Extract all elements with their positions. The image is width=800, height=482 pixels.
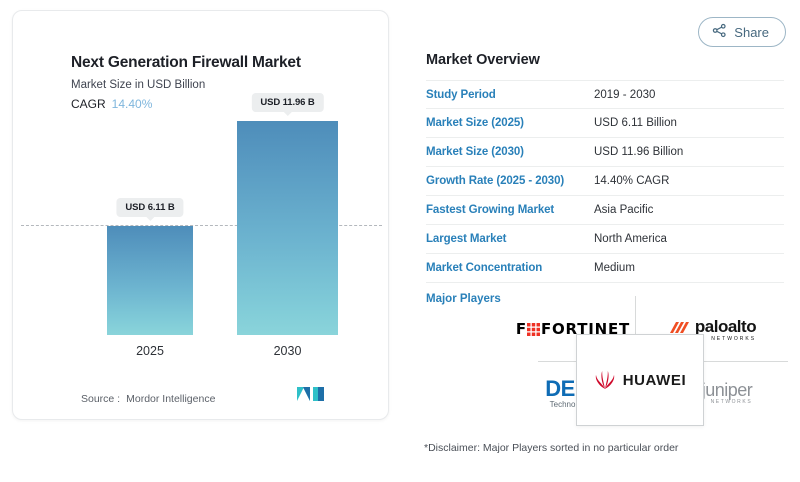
source-label: Source : <box>81 393 120 405</box>
huawei-logo-text: HUAWEI <box>623 372 687 389</box>
row-value: Asia Pacific <box>594 204 653 216</box>
row-label: Market Size (2030) <box>426 146 594 158</box>
source-row: Source : Mordor Intelligence <box>81 393 215 405</box>
bar-column-2025: USD 6.11 B <box>107 226 193 335</box>
huawei-mark-icon <box>594 370 616 390</box>
row-value: 2019 - 2030 <box>594 89 655 101</box>
row-label: Largest Market <box>426 233 594 245</box>
row-value: North America <box>594 233 667 245</box>
row-label: Fastest Growing Market <box>426 204 594 216</box>
row-label: Study Period <box>426 89 594 101</box>
share-button-label: Share <box>734 25 769 40</box>
row-value: USD 6.11 Billion <box>594 117 677 129</box>
market-overview-title: Market Overview <box>426 52 540 68</box>
market-report-page: Next Generation Firewall Market Market S… <box>0 0 800 482</box>
market-overview-table: Study Period 2019 - 2030 Market Size (20… <box>426 80 784 283</box>
row-label: Market Size (2025) <box>426 117 594 129</box>
x-axis-label-2030: 2030 <box>274 344 302 358</box>
bar-value-label-2030: USD 11.96 B <box>251 93 323 112</box>
bar-column-2030: USD 11.96 B <box>237 121 338 335</box>
fortinet-mark-icon <box>527 323 540 336</box>
table-row: Study Period 2019 - 2030 <box>426 80 784 109</box>
mordor-intelligence-logo-icon <box>296 384 326 409</box>
major-players-logo-grid: F FORTINET <box>508 296 788 424</box>
player-logo-huawei[interactable]: HUAWEI <box>576 334 704 426</box>
share-icon <box>712 23 727 41</box>
row-value: USD 11.96 Billion <box>594 146 683 158</box>
row-label: Growth Rate (2025 - 2030) <box>426 175 594 187</box>
share-button[interactable]: Share <box>698 17 786 47</box>
table-row: Growth Rate (2025 - 2030) 14.40% CAGR <box>426 167 784 196</box>
cagr-label: CAGR <box>71 96 106 112</box>
chart-subtitle: Market Size in USD Billion <box>71 78 371 93</box>
table-row: Market Concentration Medium <box>426 254 784 283</box>
row-value: 14.40% CAGR <box>594 175 669 187</box>
chart-card: Next Generation Firewall Market Market S… <box>12 10 389 420</box>
table-row: Market Size (2025) USD 6.11 Billion <box>426 109 784 138</box>
bar-chart-plot: USD 6.11 B USD 11.96 B 2025 2030 <box>13 123 390 371</box>
disclaimer-text: *Disclaimer: Major Players sorted in no … <box>424 442 678 454</box>
bar-2030[interactable] <box>237 121 338 335</box>
x-axis-label-2025: 2025 <box>136 344 164 358</box>
table-row: Largest Market North America <box>426 225 784 254</box>
row-value: Medium <box>594 262 635 274</box>
cagr-value: 14.40% <box>112 96 153 112</box>
bar-2025[interactable] <box>107 226 193 335</box>
major-players-label: Major Players <box>426 293 501 305</box>
row-label: Market Concentration <box>426 262 594 274</box>
table-row: Market Size (2030) USD 11.96 Billion <box>426 138 784 167</box>
paloalto-logo-text: paloalto <box>695 317 756 337</box>
source-name: Mordor Intelligence <box>126 393 215 405</box>
fortinet-logo-text-pre: F <box>516 320 527 338</box>
table-row: Fastest Growing Market Asia Pacific <box>426 196 784 225</box>
chart-header: Next Generation Firewall Market Market S… <box>71 53 371 112</box>
juniper-logo-text: juniper <box>702 381 753 399</box>
cagr-row: CAGR 14.40% <box>71 96 371 112</box>
chart-title: Next Generation Firewall Market <box>71 53 371 73</box>
bar-value-label-2025: USD 6.11 B <box>116 198 183 217</box>
